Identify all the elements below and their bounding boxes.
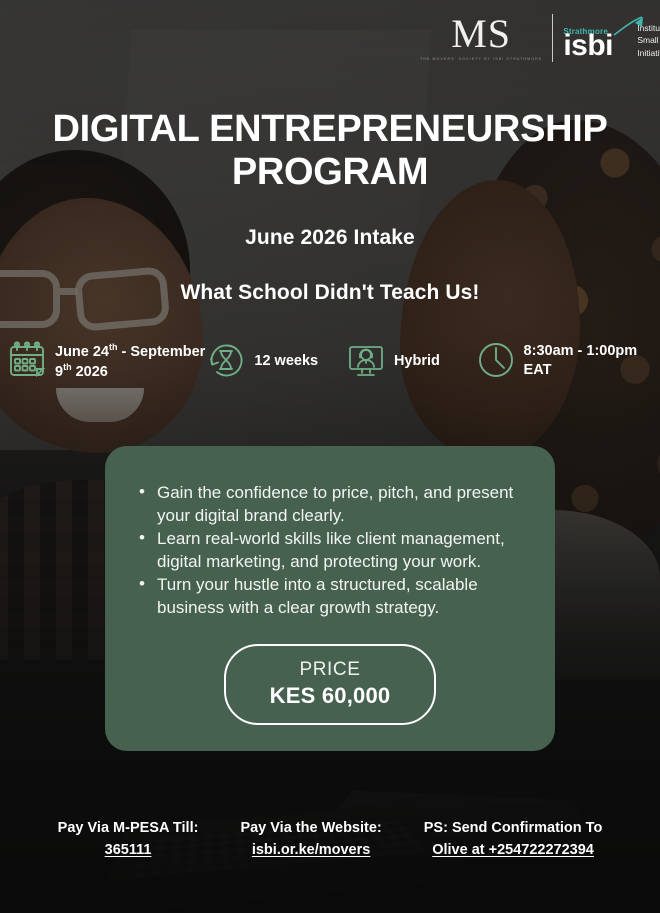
payment-website-link[interactable]: isbi.or.ke/movers xyxy=(240,840,381,862)
isbi-subtitle: Institute for Small Business Initiatives xyxy=(637,22,660,59)
info-mode-text: Hybrid xyxy=(394,352,440,371)
info-item-time: 8:30am - 1:00pm EAT xyxy=(475,338,654,386)
logo-divider xyxy=(552,14,553,62)
clock-icon xyxy=(475,339,517,386)
ms-logo-tagline: THE MOVERS' SOCIETY BY ISBI STRATHMORE xyxy=(420,57,542,62)
isbi-logo: Strathmore isbi Institute for Small Busi… xyxy=(563,16,646,61)
payment-confirmation-contact[interactable]: Olive at +254722272394 xyxy=(424,840,603,862)
payment-confirmation: PS: Send Confirmation To Olive at +25472… xyxy=(424,818,603,862)
list-item: Gain the confidence to price, pitch, and… xyxy=(139,482,521,527)
intake-label: June 2026 Intake xyxy=(0,226,660,250)
list-item: Turn your hustle into a structured, scal… xyxy=(139,574,521,619)
info-item-dates: June 24th - September 9th 2026 xyxy=(6,338,205,386)
payment-mpesa-till[interactable]: 365111 xyxy=(58,840,199,862)
price-badge: PRICE KES 60,000 xyxy=(224,644,436,725)
ms-logo: MS THE MOVERS' SOCIETY BY ISBI STRATHMOR… xyxy=(420,14,542,62)
isbi-subtitle-line-3: Initiatives xyxy=(637,47,660,59)
info-dates-text: June 24th - September 9th 2026 xyxy=(55,338,205,382)
price-value: KES 60,000 xyxy=(226,682,434,710)
benefits-list: Gain the confidence to price, pitch, and… xyxy=(139,482,521,620)
payment-footer: Pay Via M-PESA Till: 365111 Pay Via the … xyxy=(0,818,660,862)
list-item: Learn real-world skills like client mana… xyxy=(139,528,521,573)
calendar-icon xyxy=(6,339,48,386)
isbi-subtitle-line-2: Small Business xyxy=(637,34,660,46)
program-info-strip: June 24th - September 9th 2026 12 we xyxy=(6,338,654,386)
flyer-poster: MS THE MOVERS' SOCIETY BY ISBI STRATHMOR… xyxy=(0,0,660,913)
isbi-subtitle-line-1: Institute for xyxy=(637,22,660,34)
isbi-wordmark: isbi xyxy=(563,32,646,61)
hourglass-refresh-icon xyxy=(205,339,247,386)
ms-logo-mark: MS xyxy=(420,14,542,54)
benefits-card: Gain the confidence to price, pitch, and… xyxy=(105,446,555,751)
monitor-person-headset-icon xyxy=(345,339,387,386)
program-title: DIGITAL ENTREPRENEURSHIP PROGRAM xyxy=(0,108,660,193)
info-item-mode: Hybrid xyxy=(345,338,475,386)
tagline: What School Didn't Teach Us! xyxy=(0,281,660,305)
logo-bar: MS THE MOVERS' SOCIETY BY ISBI STRATHMOR… xyxy=(420,14,646,62)
payment-mpesa: Pay Via M-PESA Till: 365111 xyxy=(58,818,199,862)
payment-confirmation-title: PS: Send Confirmation To xyxy=(424,818,603,840)
info-duration-text: 12 weeks xyxy=(254,352,318,371)
price-label: PRICE xyxy=(226,658,434,682)
payment-website-title: Pay Via the Website: xyxy=(240,818,381,840)
payment-website: Pay Via the Website: isbi.or.ke/movers xyxy=(240,818,381,862)
info-item-duration: 12 weeks xyxy=(205,338,345,386)
payment-mpesa-title: Pay Via M-PESA Till: xyxy=(58,818,199,840)
info-time-text: 8:30am - 1:00pm EAT xyxy=(524,338,654,381)
